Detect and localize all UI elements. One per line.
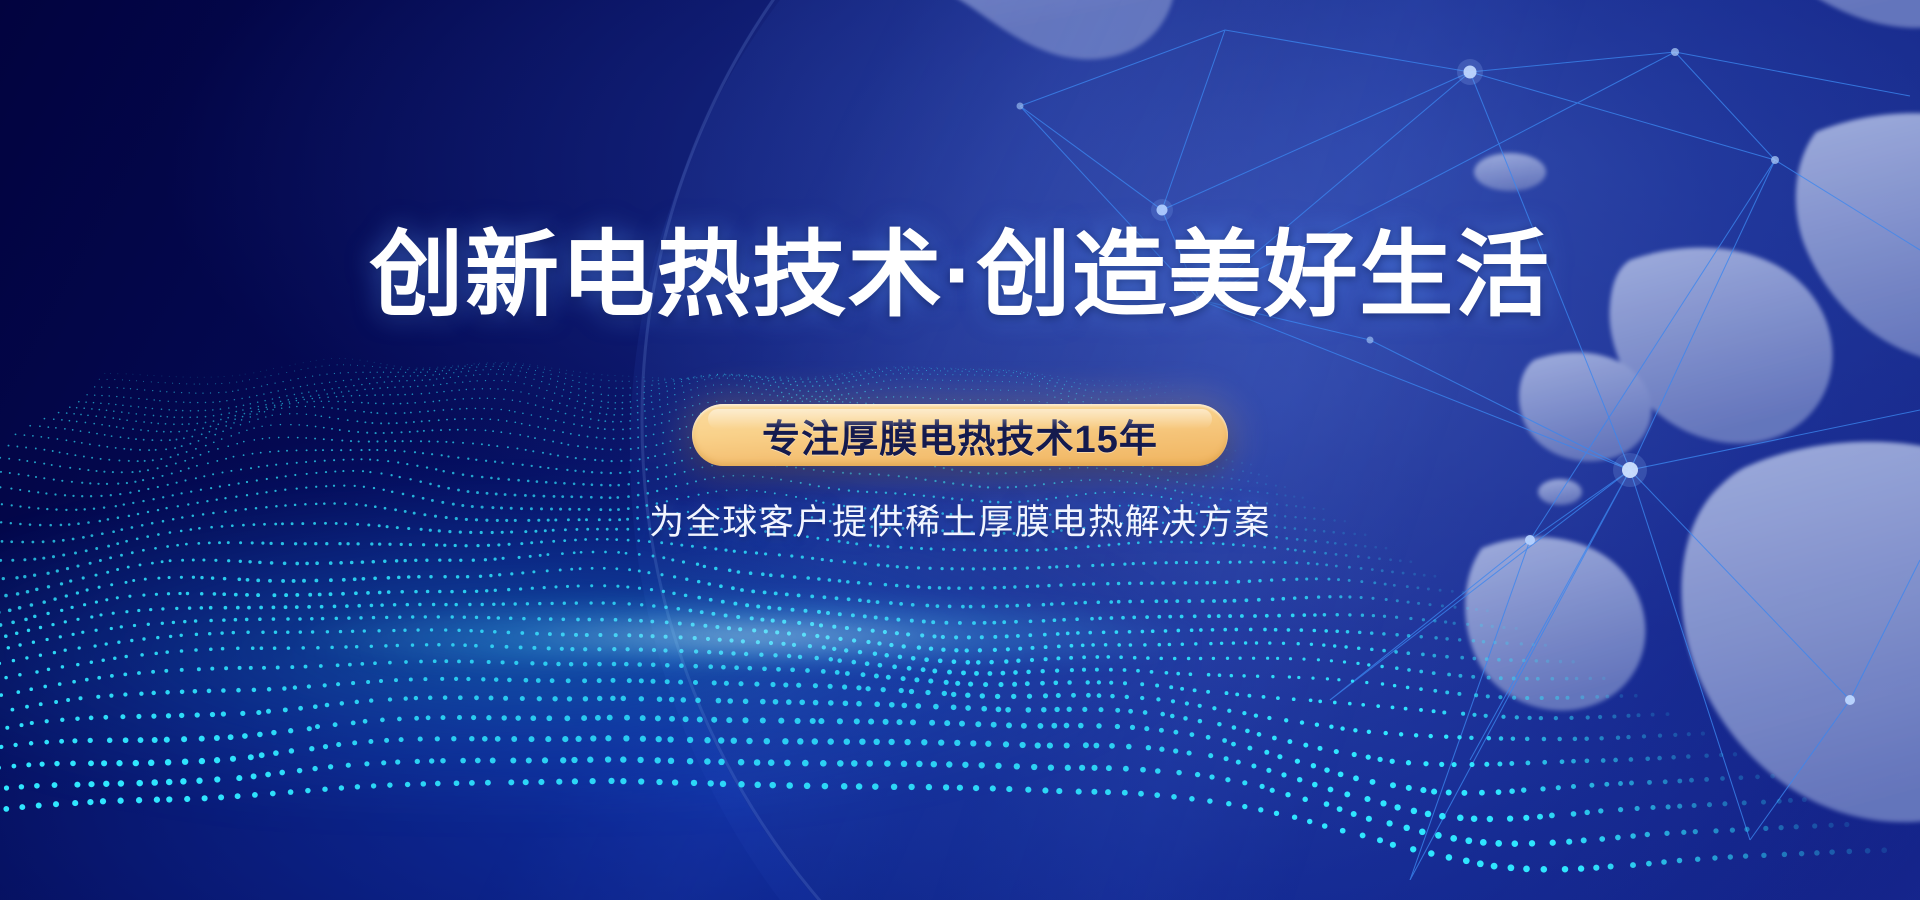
page-subtitle: 为全球客户提供稀土厚膜电热解决方案 [649,494,1271,545]
page-title: 创新电热技术·创造美好生活 [369,222,1550,327]
hero-content: 创新电热技术·创造美好生活 专注厚膜电热技术15年 为全球客户提供稀土厚膜电热解… [0,0,1920,900]
badge-label: 专注厚膜电热技术15年 [762,408,1158,463]
hero-banner: 创新电热技术·创造美好生活 专注厚膜电热技术15年 为全球客户提供稀土厚膜电热解… [0,0,1920,900]
status-badge: 专注厚膜电热技术15年 [692,404,1228,466]
